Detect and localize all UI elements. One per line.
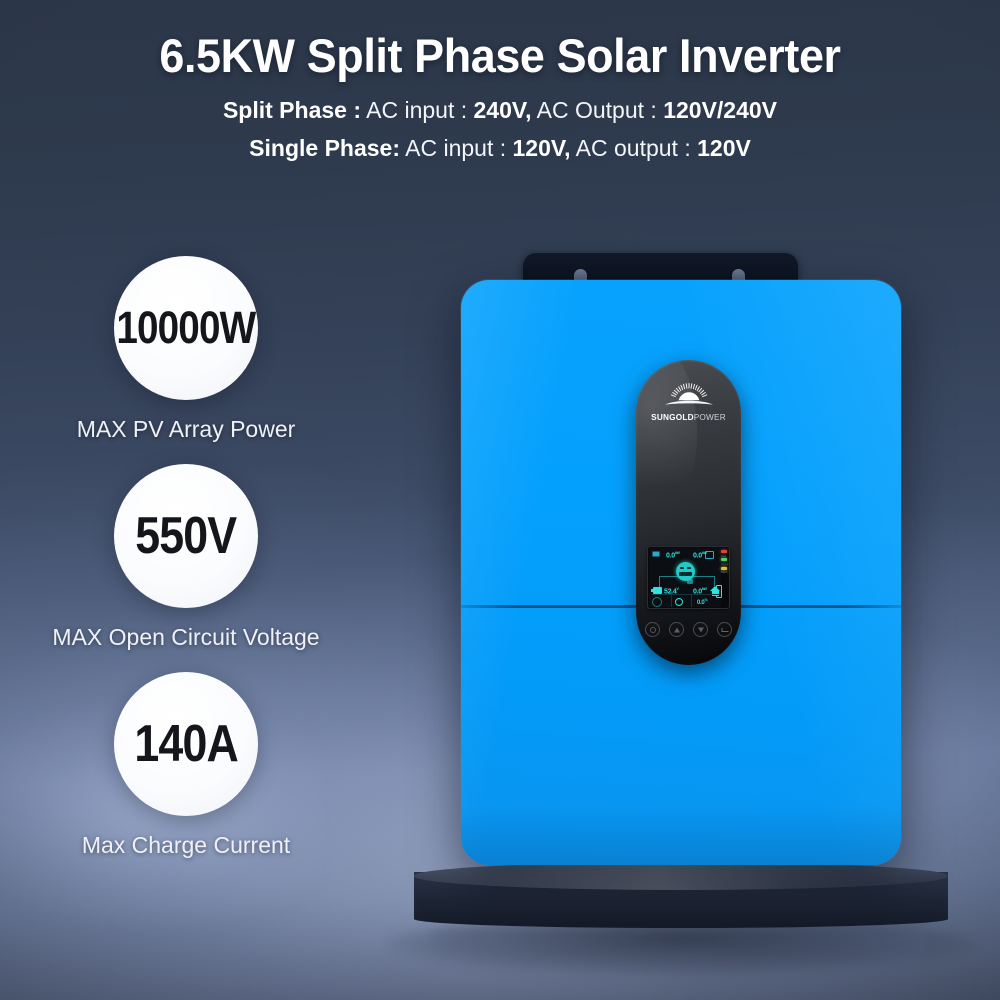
brand-logo: SUNGOLDPOWER <box>636 382 741 422</box>
split-phase-input-value: 240V, <box>474 97 532 123</box>
control-panel: SUNGOLDPOWER <box>636 360 741 665</box>
single-phase-label: Single Phase: <box>249 135 400 161</box>
single-phase-output-value: 120V <box>697 135 751 161</box>
control-button-row <box>645 622 732 637</box>
gear-icon <box>675 598 683 606</box>
flow-wire-left <box>659 576 660 587</box>
lcd-pv-power-value: 0.0kW <box>666 551 680 559</box>
lcd-display-area: 0.0kW 0.0kW 52.4V 0.0kW 0.0% <box>649 548 721 607</box>
flow-wire-right <box>714 576 715 587</box>
lcd-divider-vertical-2 <box>691 594 692 607</box>
sunrise-icon <box>661 382 717 409</box>
single-phase-input-value: 120V, <box>513 135 571 161</box>
badge-value: 140A <box>134 714 237 774</box>
header: 6.5KW Split Phase Solar Inverter Split P… <box>0 0 1000 161</box>
escape-button[interactable] <box>645 622 660 637</box>
chevron-down-icon <box>698 627 704 632</box>
single-phase-output-label: AC output : <box>576 135 691 161</box>
badge-value: 10000W <box>117 302 256 354</box>
down-button[interactable] <box>693 622 708 637</box>
led-normal-icon <box>721 558 727 561</box>
body-bottom-shading <box>461 805 901 865</box>
led-battery-icon <box>721 567 727 570</box>
inverter-icon-detail-2 <box>687 567 691 569</box>
split-phase-output-label: AC Output : <box>537 97 657 123</box>
battery-icon <box>653 587 662 594</box>
lcd-percent-value: 0.0% <box>697 598 707 606</box>
feature-badge-charge-current: 140A Max Charge Current <box>6 672 366 859</box>
badge-circle: 550V <box>114 464 258 608</box>
inverter-icon-detail-3 <box>679 572 692 576</box>
inverter-status-icon <box>676 562 695 581</box>
led-normal-label: Normal <box>721 563 729 567</box>
check-icon <box>721 628 728 632</box>
led-indicator-rail: Fault Normal Battery <box>721 550 729 604</box>
badge-caption: MAX Open Circuit Voltage <box>6 624 366 651</box>
lcd-divider-horizontal <box>652 594 720 595</box>
badge-circle: 140A <box>114 672 258 816</box>
escape-icon <box>650 627 656 633</box>
feature-badge-open-circuit-voltage: 550V MAX Open Circuit Voltage <box>6 464 366 651</box>
enter-button[interactable] <box>717 622 732 637</box>
status-circle-icon <box>652 597 662 607</box>
inverter-icon-detail-1 <box>680 567 684 569</box>
badge-circle: 10000W <box>114 256 258 400</box>
spec-line-single-phase: Single Phase: AC input : 120V, AC output… <box>0 136 1000 161</box>
badge-caption: MAX PV Array Power <box>6 416 366 443</box>
led-battery-label: Battery <box>721 571 729 575</box>
badge-caption: Max Charge Current <box>6 832 366 859</box>
chevron-up-icon <box>674 627 680 632</box>
single-phase-input-label: AC input : <box>405 135 506 161</box>
led-fault-icon <box>721 550 727 553</box>
brand-sungold: SUNGOLD <box>651 412 694 422</box>
brand-power: POWER <box>694 412 726 422</box>
product-marketing-image: 6.5KW Split Phase Solar Inverter Split P… <box>0 0 1000 1000</box>
brand-name: SUNGOLDPOWER <box>638 412 739 422</box>
split-phase-output-value: 120V/240V <box>663 97 777 123</box>
split-phase-input-label: AC input : <box>366 97 467 123</box>
badge-value: 550V <box>135 506 236 566</box>
lcd-divider-vertical-1 <box>671 594 672 607</box>
spec-line-split-phase: Split Phase : AC input : 240V, AC Output… <box>0 98 1000 123</box>
solar-panel-icon <box>652 551 660 557</box>
page-title: 6.5KW Split Phase Solar Inverter <box>23 32 978 81</box>
lcd-ac-power-value: 0.0kW <box>693 551 707 559</box>
lcd-screen[interactable]: 0.0kW 0.0kW 52.4V 0.0kW 0.0% Fault Norma… <box>647 546 730 609</box>
split-phase-label: Split Phase : <box>223 97 361 123</box>
feature-badge-pv-power: 10000W MAX PV Array Power <box>6 256 366 443</box>
led-fault-label: Fault <box>721 555 729 559</box>
up-button[interactable] <box>669 622 684 637</box>
